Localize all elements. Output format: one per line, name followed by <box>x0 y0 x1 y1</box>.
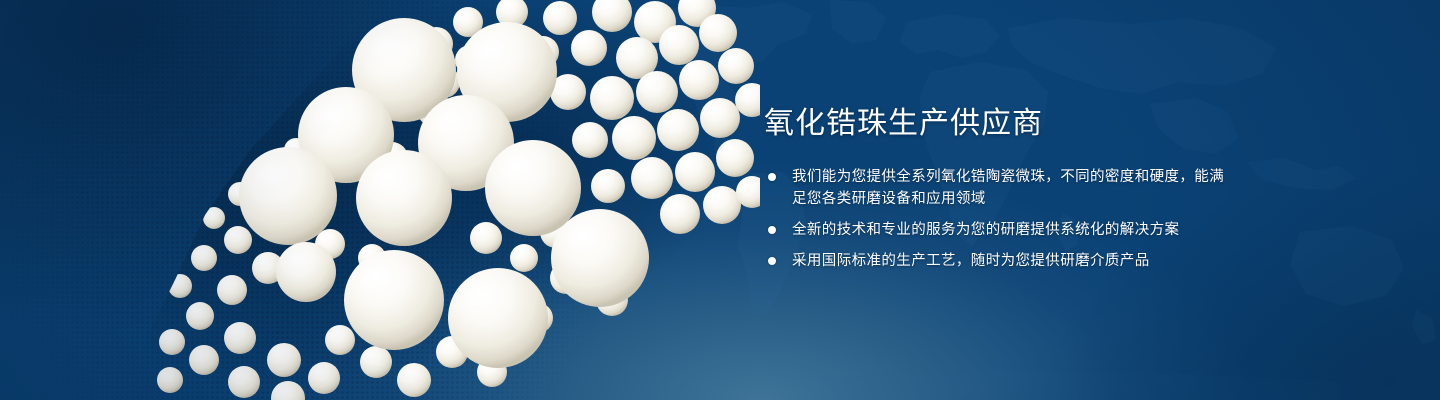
list-item: 采用国际标准的生产工艺，随时为您提供研磨介质产品 <box>764 250 1234 272</box>
feature-list: 我们能为您提供全系列氧化锆陶瓷微珠，不同的密度和硬度，能满足您各类研磨设备和应用… <box>764 166 1234 272</box>
list-item-text: 我们能为您提供全系列氧化锆陶瓷微珠，不同的密度和硬度，能满足您各类研磨设备和应用… <box>792 169 1224 207</box>
list-item-text: 采用国际标准的生产工艺，随时为您提供研磨介质产品 <box>792 253 1150 269</box>
list-item: 全新的技术和专业的服务为您的研磨提供系统化的解决方案 <box>764 219 1234 241</box>
banner-copy: 氧化锆珠生产供应商 我们能为您提供全系列氧化锆陶瓷微珠，不同的密度和硬度，能满足… <box>764 104 1234 272</box>
list-item-text: 全新的技术和专业的服务为您的研磨提供系统化的解决方案 <box>792 222 1179 238</box>
page-title: 氧化锆珠生产供应商 <box>764 104 1234 144</box>
bullet-dot-icon <box>768 173 776 181</box>
bullet-dot-icon <box>768 257 776 265</box>
hero-banner: 氧化锆珠生产供应商 我们能为您提供全系列氧化锆陶瓷微珠，不同的密度和硬度，能满足… <box>0 0 1440 400</box>
list-item: 我们能为您提供全系列氧化锆陶瓷微珠，不同的密度和硬度，能满足您各类研磨设备和应用… <box>764 166 1234 210</box>
bullet-dot-icon <box>768 226 776 234</box>
